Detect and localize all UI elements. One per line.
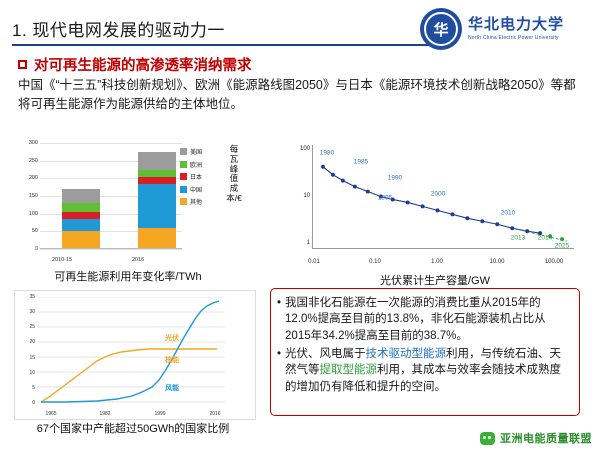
curve-annotation-2010: 2010 <box>501 210 515 217</box>
caption-country-chart: 67个国家中产能超过50GWh的国家比例 <box>8 420 258 436</box>
bar-column-2010-15 <box>62 143 100 249</box>
chart-pv-learning-curve: 100 10 1 1980 1985 1990 <box>282 139 582 269</box>
bar-chart-side-label: 每瓦峰值成本/€ <box>226 145 242 204</box>
page-title-text: 1. 现代电网发展的驱动力一 <box>12 16 442 41</box>
curve-annotation-2025: 2025 <box>555 243 569 250</box>
bar-column-2016 <box>138 143 176 249</box>
chart-renewable-bar: 0 50 100 150 200 250 300 <box>14 139 244 265</box>
country-label-wind: 风能 <box>165 383 179 393</box>
bar-segment-japan <box>138 177 176 183</box>
page-title: 1. 现代电网发展的驱动力一 <box>12 16 442 41</box>
bar-segment-other <box>138 228 176 249</box>
bar-chart-legend: 美国 欧洲 日本 中国 其他 <box>180 147 218 210</box>
bullet-dot-icon: • <box>277 295 281 344</box>
country-x-tick-2016: 2016 <box>209 411 220 417</box>
section-paragraph: 中国《“十三五”科技创新规划》、欧洲《能源路线图2050》与日本《能源环境技术创… <box>18 76 583 115</box>
legend-item-china: 中国 <box>180 185 218 194</box>
section-heading: 对可再生能源的高渗透率消纳需求 <box>18 54 252 75</box>
country-chart-svg <box>37 297 225 403</box>
section-heading-text: 对可再生能源的高渗透率消纳需求 <box>34 54 252 75</box>
bar-segment-other <box>62 231 100 249</box>
country-chart-plot: 光伏 核能 风能 <box>37 297 225 403</box>
curve-y-tick-100: 100 <box>282 146 310 152</box>
caption-bar-chart: 可再生能源利用年变化率/TWh <box>8 268 248 284</box>
curve-x-tick-2: 1.00 <box>431 259 443 265</box>
curve-annotation-1995: 1995 <box>378 195 392 202</box>
logo-name-en: North China Electric Power University <box>468 36 564 42</box>
bar-segment-japan <box>62 212 100 219</box>
curve-plot-area: 1980 1985 1990 1995 2000 2010 2013 2014 … <box>312 145 574 249</box>
university-logo: 华 华北电力大学 North China Electric Power Univ… <box>420 6 590 52</box>
curve-annotation-1985: 1985 <box>354 159 368 166</box>
logo-emblem-text: 华 <box>433 19 448 40</box>
curve-x-tick-0: 0.01 <box>308 259 320 265</box>
highlight-bullet-1: • 我国非化石能源在一次能源的消费比重从2015年的12.0%提高至目前的13.… <box>277 295 571 344</box>
country-x-tick-1982: 1982 <box>99 411 110 417</box>
bullet-square-icon <box>18 60 27 69</box>
bar-segment-europe <box>138 170 176 178</box>
bar-segment-china <box>138 184 176 228</box>
highlight-box: • 我国非化石能源在一次能源的消费比重从2015年的12.0%提高至目前的13.… <box>270 288 580 416</box>
highlight-bullet-1-text: 我国非化石能源在一次能源的消费比重从2015年的12.0%提高至目前的13.8%… <box>285 295 571 344</box>
title-underline <box>12 44 448 46</box>
bar-chart-baseline <box>40 248 182 249</box>
footer-text: 亚洲电能质量联盟 <box>500 430 592 446</box>
curve-annotation-2014: 2014 <box>538 235 552 242</box>
curve-x-tick-4: 100.00 <box>545 259 563 265</box>
country-label-pv: 光伏 <box>165 333 179 343</box>
logo-emblem-icon: 华 <box>420 8 462 50</box>
wechat-icon <box>480 432 495 445</box>
legend-item-japan: 日本 <box>180 172 218 181</box>
bullet-dot-icon: • <box>277 346 281 395</box>
bar-x-tick-2010-15: 2010-15 <box>36 257 88 263</box>
bar-chart-y-axis: 0 50 100 150 200 250 300 <box>14 143 40 249</box>
bar-x-tick-2016: 2016 <box>112 257 164 263</box>
curve-y-tick-1: 1 <box>282 240 310 246</box>
bar-segment-europe <box>62 203 100 212</box>
country-chart-y-axis: 0 5 10 15 20 25 30 35 <box>15 297 37 403</box>
highlight-bullet-2: • 光伏、风电属于技术驱动型能源利用，与传统石油、天然气等提取型能源利用，其成本… <box>277 346 571 395</box>
highlight-bullet-2-text: 光伏、风电属于技术驱动型能源利用，与传统石油、天然气等提取型能源利用，其成本与效… <box>285 346 571 395</box>
curve-annotation-2013: 2013 <box>511 235 525 242</box>
legend-item-other: 其他 <box>180 197 218 206</box>
curve-annotation-2000: 2000 <box>431 191 445 198</box>
curve-x-tick-3: 10.00 <box>489 259 504 265</box>
curve-annotation-1990: 1990 <box>388 175 402 182</box>
country-label-nuclear: 核能 <box>165 355 179 365</box>
curve-x-tick-1: 0.10 <box>369 259 381 265</box>
curve-y-tick-10: 10 <box>282 193 310 199</box>
logo-name-cn: 华北电力大学 <box>468 17 564 34</box>
chart-country-share: 0 5 10 15 20 25 30 35 <box>14 290 256 420</box>
country-x-tick-1999: 1999 <box>154 411 165 417</box>
footer-watermark: 亚洲电能质量联盟 <box>480 430 592 446</box>
curve-annotation-1980: 1980 <box>320 150 334 157</box>
legend-item-europe: 欧洲 <box>180 160 218 169</box>
bar-segment-china <box>62 219 100 231</box>
bar-segment-usa <box>62 189 100 203</box>
country-x-tick-1965: 1965 <box>45 411 56 417</box>
slide: 1. 现代电网发展的驱动力一 华 华北电力大学 North China Elec… <box>0 0 600 450</box>
bar-chart-plot <box>40 143 182 249</box>
bar-segment-usa <box>138 152 176 170</box>
caption-curve-chart: 光伏累计生产容量/GW <box>300 272 570 288</box>
legend-item-usa: 美国 <box>180 147 218 156</box>
